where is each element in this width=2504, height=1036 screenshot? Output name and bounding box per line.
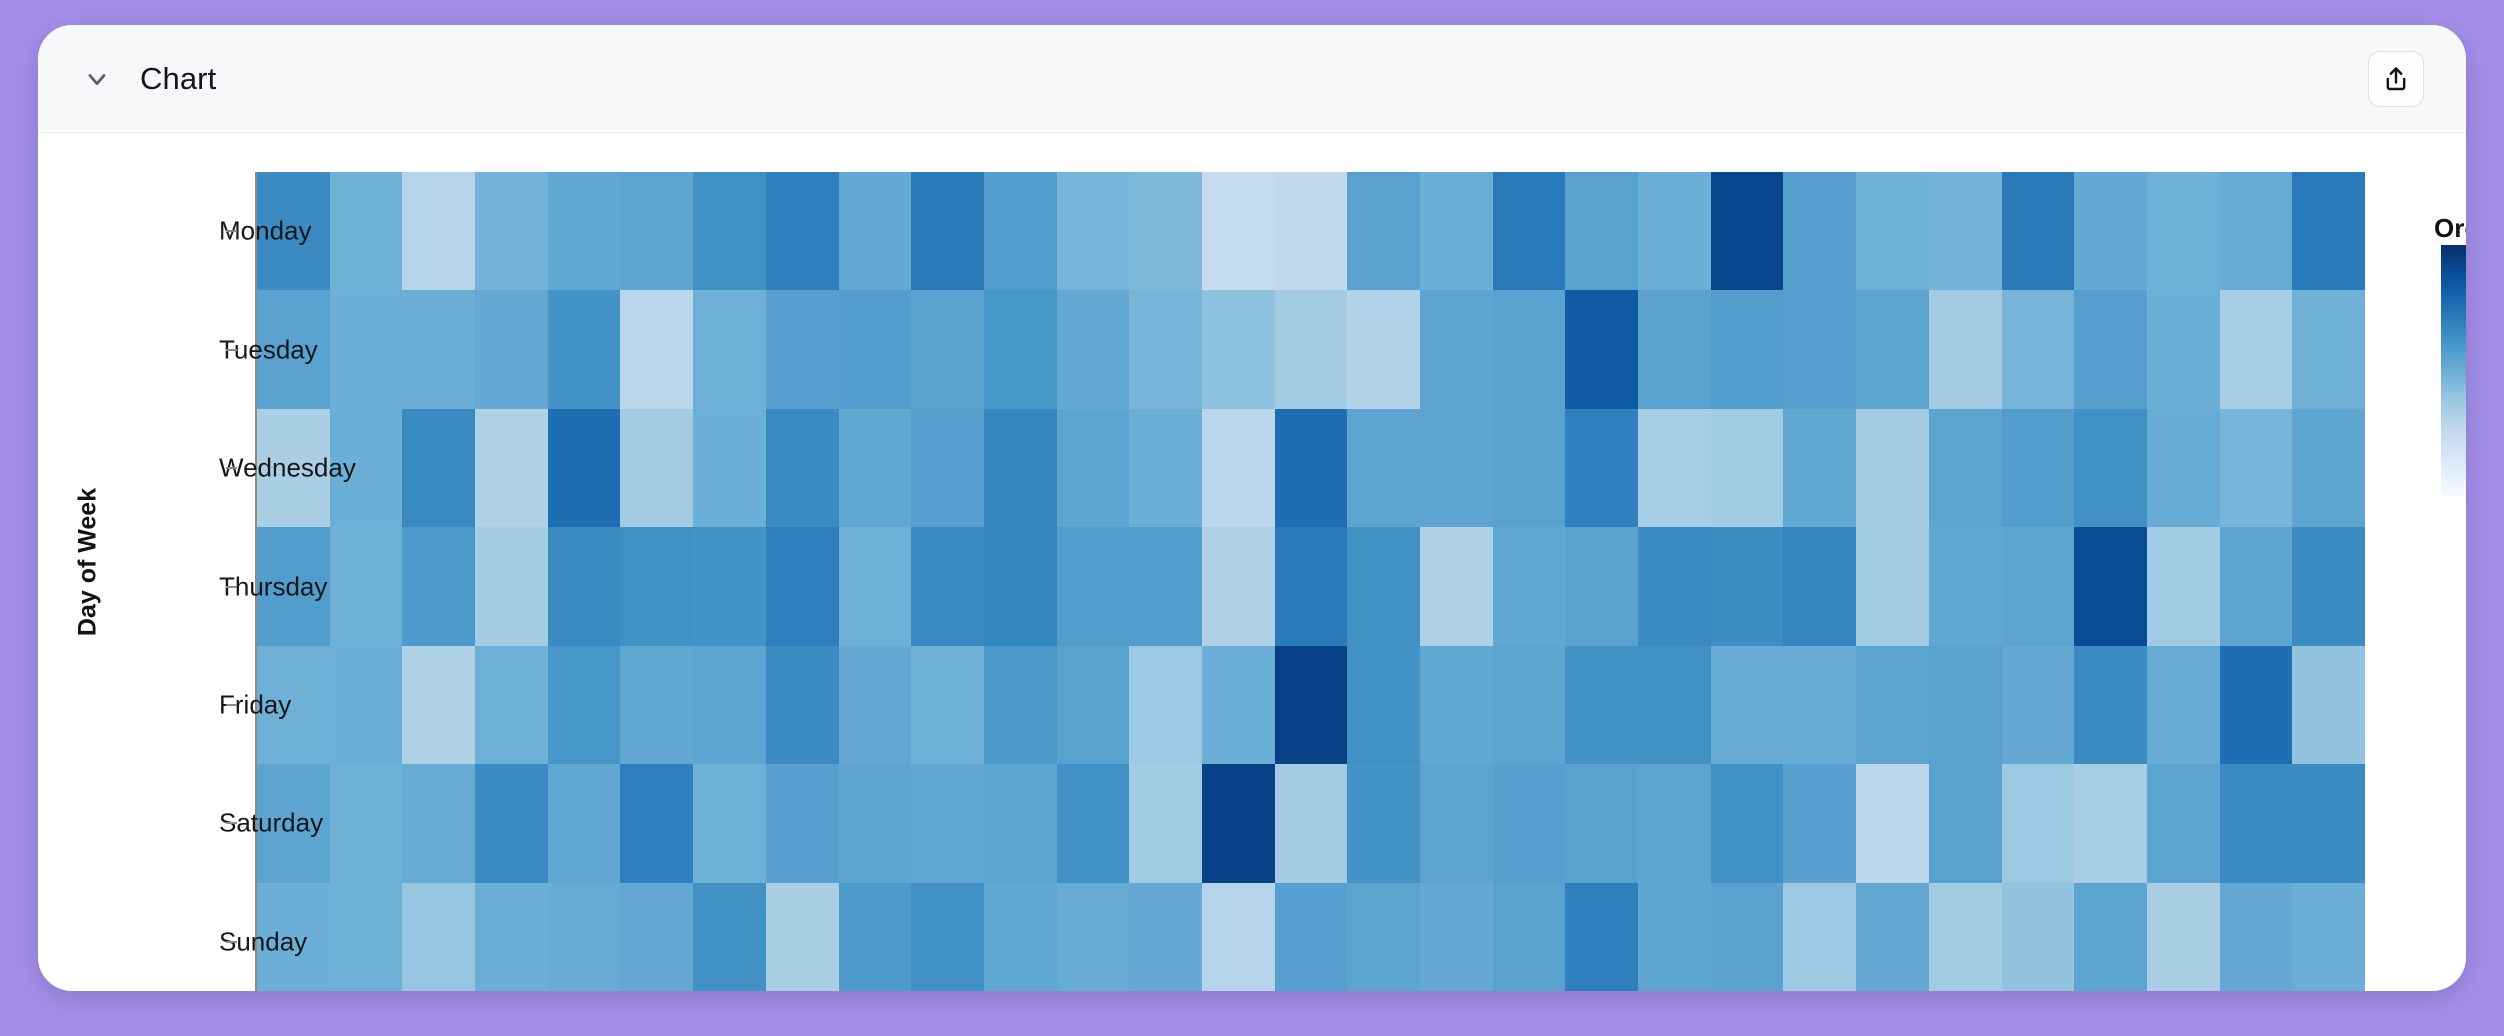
heatmap-cell[interactable]: [766, 764, 839, 882]
heatmap-cell[interactable]: [911, 290, 984, 408]
heatmap-cell[interactable]: [402, 290, 475, 408]
heatmap-cell[interactable]: [548, 883, 621, 991]
heatmap-cell[interactable]: [2292, 764, 2365, 882]
heatmap-cell[interactable]: [1565, 290, 1638, 408]
heatmap-cell[interactable]: [1129, 172, 1202, 290]
heatmap-cell[interactable]: [1565, 172, 1638, 290]
heatmap-cell[interactable]: [1275, 646, 1348, 764]
heatmap-cell[interactable]: [1638, 764, 1711, 882]
heatmap-cell[interactable]: [2147, 883, 2220, 991]
heatmap-cell[interactable]: [766, 646, 839, 764]
heatmap-cell[interactable]: [1929, 409, 2002, 527]
heatmap-cell[interactable]: [1783, 172, 1856, 290]
heatmap-cell[interactable]: [693, 172, 766, 290]
heatmap-cell[interactable]: [1057, 527, 1130, 645]
heatmap-cell[interactable]: [1347, 883, 1420, 991]
heatmap-cell[interactable]: [1347, 646, 1420, 764]
heatmap-cell[interactable]: [1711, 290, 1784, 408]
heatmap-cell[interactable]: [1202, 527, 1275, 645]
heatmap-cell[interactable]: [2220, 764, 2293, 882]
y-axis-tick: [226, 941, 237, 943]
heatmap-cell[interactable]: [2220, 409, 2293, 527]
heatmap-cell[interactable]: [693, 527, 766, 645]
heatmap-cell[interactable]: [693, 409, 766, 527]
heatmap-cell[interactable]: [2002, 527, 2075, 645]
heatmap-cell[interactable]: [1638, 646, 1711, 764]
heatmap-cell[interactable]: [1929, 172, 2002, 290]
heatmap-cell[interactable]: [1565, 646, 1638, 764]
heatmap-cell[interactable]: [1493, 764, 1566, 882]
heatmap-cell[interactable]: [766, 409, 839, 527]
heatmap-cell[interactable]: [1856, 172, 1929, 290]
heatmap-cell[interactable]: [475, 527, 548, 645]
heatmap-cell[interactable]: [1202, 646, 1275, 764]
heatmap-cell[interactable]: [1638, 290, 1711, 408]
y-axis-tick: [226, 586, 237, 588]
heatmap-cell[interactable]: [2002, 764, 2075, 882]
heatmap-cell[interactable]: [839, 172, 912, 290]
heatmap-cell[interactable]: [1856, 527, 1929, 645]
heatmap-cell[interactable]: [1929, 646, 2002, 764]
heatmap-cell[interactable]: [1057, 764, 1130, 882]
heatmap-cell[interactable]: [1493, 527, 1566, 645]
heatmap-cell[interactable]: [548, 172, 621, 290]
heatmap-cell[interactable]: [2292, 172, 2365, 290]
heatmap-cell[interactable]: [402, 527, 475, 645]
heatmap-cell[interactable]: [1638, 172, 1711, 290]
heatmap-cell[interactable]: [1711, 646, 1784, 764]
heatmap-cell[interactable]: [475, 172, 548, 290]
heatmap-cell[interactable]: [620, 764, 693, 882]
heatmap-cell[interactable]: [2147, 290, 2220, 408]
heatmap-cell[interactable]: [1275, 764, 1348, 882]
heatmap-cell[interactable]: [2002, 172, 2075, 290]
heatmap-cell[interactable]: [2220, 290, 2293, 408]
heatmap-cell[interactable]: [911, 646, 984, 764]
heatmap-cell[interactable]: [2292, 646, 2365, 764]
heatmap-cell[interactable]: [766, 883, 839, 991]
heatmap-cell[interactable]: [402, 172, 475, 290]
heatmap-cell[interactable]: [1057, 290, 1130, 408]
heatmap-cell[interactable]: [2074, 527, 2147, 645]
heatmap-cell[interactable]: [1347, 172, 1420, 290]
heatmap-grid: [257, 172, 2365, 991]
heatmap-cell[interactable]: [911, 883, 984, 991]
heatmap-cell[interactable]: [2074, 883, 2147, 991]
heatmap-cell[interactable]: [1420, 409, 1493, 527]
heatmap-cell[interactable]: [2074, 646, 2147, 764]
heatmap-cell[interactable]: [839, 646, 912, 764]
heatmap-cell[interactable]: [1275, 290, 1348, 408]
heatmap-cell[interactable]: [1275, 527, 1348, 645]
heatmap-cell[interactable]: [693, 290, 766, 408]
legend-title: Orders: [2434, 213, 2466, 244]
heatmap-cell[interactable]: [330, 883, 403, 991]
heatmap-cell[interactable]: [2292, 409, 2365, 527]
heatmap-cell[interactable]: [1129, 883, 1202, 991]
heatmap-cell[interactable]: [1783, 527, 1856, 645]
heatmap-cell[interactable]: [2220, 172, 2293, 290]
heatmap-cell[interactable]: [620, 883, 693, 991]
heatmap-cell[interactable]: [1638, 883, 1711, 991]
heatmap-cell[interactable]: [839, 527, 912, 645]
heatmap-cell[interactable]: [2220, 646, 2293, 764]
heatmap-cell[interactable]: [548, 646, 621, 764]
heatmap-cell[interactable]: [1057, 646, 1130, 764]
heatmap-cell[interactable]: [475, 764, 548, 882]
y-axis-tick: [226, 230, 237, 232]
heatmap-cell[interactable]: [1057, 409, 1130, 527]
heatmap-cell[interactable]: [984, 290, 1057, 408]
heatmap-cell[interactable]: [1783, 764, 1856, 882]
heatmap-cell[interactable]: [911, 409, 984, 527]
heatmap-cell[interactable]: [984, 764, 1057, 882]
heatmap-cell[interactable]: [2002, 409, 2075, 527]
heatmap-cell[interactable]: [1347, 409, 1420, 527]
heatmap-cell[interactable]: [1493, 172, 1566, 290]
heatmap-cell[interactable]: [1711, 409, 1784, 527]
heatmap-cell[interactable]: [1129, 764, 1202, 882]
heatmap-cell[interactable]: [2147, 527, 2220, 645]
heatmap-cell[interactable]: [766, 172, 839, 290]
heatmap-cell[interactable]: [2002, 290, 2075, 408]
heatmap-cell[interactable]: [1711, 883, 1784, 991]
y-axis-tick-label: Wednesday: [219, 453, 356, 484]
heatmap-cell[interactable]: [911, 172, 984, 290]
legend-colorbar: [2441, 245, 2466, 497]
heatmap-cell[interactable]: [984, 646, 1057, 764]
heatmap-cell[interactable]: [1202, 883, 1275, 991]
heatmap-cell[interactable]: [620, 409, 693, 527]
heatmap-cell[interactable]: [1638, 409, 1711, 527]
heatmap-cell[interactable]: [2147, 764, 2220, 882]
heatmap-cell[interactable]: [2002, 646, 2075, 764]
heatmap-cell[interactable]: [1347, 290, 1420, 408]
heatmap-cell[interactable]: [1129, 646, 1202, 764]
heatmap-cell[interactable]: [766, 527, 839, 645]
heatmap-cell[interactable]: [1129, 527, 1202, 645]
heatmap-cell[interactable]: [548, 764, 621, 882]
heatmap-cell[interactable]: [1202, 172, 1275, 290]
heatmap-cell[interactable]: [1565, 527, 1638, 645]
heatmap-cell[interactable]: [2292, 883, 2365, 991]
heatmap-cell[interactable]: [2074, 764, 2147, 882]
heatmap-plot-area: Day of Week Week Orders 400300200100 Mon…: [38, 133, 2466, 991]
y-axis-tick: [226, 349, 237, 351]
heatmap-cell[interactable]: [1202, 409, 1275, 527]
heatmap-cell[interactable]: [1565, 409, 1638, 527]
heatmap-cell[interactable]: [1275, 883, 1348, 991]
heatmap-cell[interactable]: [984, 409, 1057, 527]
heatmap-cell[interactable]: [1929, 883, 2002, 991]
heatmap-cell[interactable]: [1493, 646, 1566, 764]
heatmap-cell[interactable]: [1856, 646, 1929, 764]
heatmap-cell[interactable]: [2074, 290, 2147, 408]
y-axis-tick: [226, 467, 237, 469]
heatmap-cell[interactable]: [1420, 883, 1493, 991]
heatmap-cell[interactable]: [620, 290, 693, 408]
heatmap-cell[interactable]: [2147, 646, 2220, 764]
heatmap-cell[interactable]: [1856, 764, 1929, 882]
heatmap-cell[interactable]: [1420, 527, 1493, 645]
heatmap-cell[interactable]: [1493, 409, 1566, 527]
heatmap-cell[interactable]: [1420, 646, 1493, 764]
heatmap-cell[interactable]: [911, 527, 984, 645]
card-header: Chart: [38, 25, 2466, 133]
heatmap-cell[interactable]: [2220, 883, 2293, 991]
heatmap-cell[interactable]: [1202, 764, 1275, 882]
heatmap-cell[interactable]: [1783, 409, 1856, 527]
heatmap-cell[interactable]: [1565, 764, 1638, 882]
heatmap-cell[interactable]: [330, 290, 403, 408]
heatmap-cell[interactable]: [402, 409, 475, 527]
heatmap-cell[interactable]: [475, 409, 548, 527]
heatmap-cell[interactable]: [984, 527, 1057, 645]
heatmap-cell[interactable]: [693, 646, 766, 764]
heatmap-cell[interactable]: [330, 764, 403, 882]
y-axis-tick: [226, 704, 237, 706]
heatmap-cell[interactable]: [1711, 764, 1784, 882]
heatmap-cell[interactable]: [839, 290, 912, 408]
heatmap-cell[interactable]: [2147, 409, 2220, 527]
heatmap-cell[interactable]: [984, 172, 1057, 290]
heatmap-cell[interactable]: [402, 646, 475, 764]
heatmap-cell[interactable]: [330, 646, 403, 764]
heatmap-cell[interactable]: [1783, 646, 1856, 764]
heatmap-cell[interactable]: [475, 883, 548, 991]
heatmap-cell[interactable]: [1275, 172, 1348, 290]
heatmap-cell[interactable]: [1929, 764, 2002, 882]
heatmap-cell[interactable]: [2147, 172, 2220, 290]
chevron-down-icon[interactable]: [80, 62, 114, 96]
heatmap-cell[interactable]: [1420, 172, 1493, 290]
heatmap-cell[interactable]: [1129, 290, 1202, 408]
heatmap-cell[interactable]: [475, 290, 548, 408]
heatmap-cell[interactable]: [693, 764, 766, 882]
heatmap-cell[interactable]: [2002, 883, 2075, 991]
heatmap-cell[interactable]: [1057, 883, 1130, 991]
chart-card: Chart Day of Week Week Orders 4003002001…: [38, 25, 2466, 991]
heatmap-cell[interactable]: [548, 527, 621, 645]
y-axis-title: Day of Week: [74, 488, 103, 636]
heatmap-cell[interactable]: [1347, 527, 1420, 645]
heatmap-cell[interactable]: [1856, 290, 1929, 408]
heatmap-cell[interactable]: [1420, 290, 1493, 408]
heatmap-cell[interactable]: [475, 646, 548, 764]
heatmap-cell[interactable]: [2292, 527, 2365, 645]
heatmap-cell[interactable]: [548, 409, 621, 527]
heatmap-cell[interactable]: [911, 764, 984, 882]
heatmap-cell[interactable]: [1929, 290, 2002, 408]
heatmap-cell[interactable]: [1711, 527, 1784, 645]
heatmap-cell[interactable]: [1493, 883, 1566, 991]
heatmap-cell[interactable]: [693, 883, 766, 991]
heatmap-cell[interactable]: [330, 527, 403, 645]
heatmap-cell[interactable]: [330, 172, 403, 290]
heatmap-cell[interactable]: [1420, 764, 1493, 882]
heatmap-cell[interactable]: [2220, 527, 2293, 645]
heatmap-cell[interactable]: [766, 290, 839, 408]
heatmap-cell[interactable]: [620, 172, 693, 290]
heatmap-cell[interactable]: [1275, 409, 1348, 527]
heatmap-cell[interactable]: [1057, 172, 1130, 290]
heatmap-cell[interactable]: [1493, 290, 1566, 408]
heatmap-cell[interactable]: [1856, 409, 1929, 527]
heatmap-cell[interactable]: [1638, 527, 1711, 645]
heatmap-cell[interactable]: [1202, 290, 1275, 408]
heatmap-cell[interactable]: [402, 764, 475, 882]
heatmap-cell[interactable]: [839, 764, 912, 882]
heatmap-cell[interactable]: [1129, 409, 1202, 527]
heatmap-cell[interactable]: [1783, 883, 1856, 991]
heatmap-cell[interactable]: [984, 883, 1057, 991]
heatmap-cell[interactable]: [1856, 883, 1929, 991]
heatmap-cell[interactable]: [620, 646, 693, 764]
heatmap-cell[interactable]: [839, 409, 912, 527]
heatmap-cell[interactable]: [1711, 172, 1784, 290]
heatmap-cell[interactable]: [2292, 290, 2365, 408]
share-export-button[interactable]: [2368, 51, 2424, 107]
heatmap-cell[interactable]: [1347, 764, 1420, 882]
heatmap-cell[interactable]: [2074, 172, 2147, 290]
y-axis-tick: [226, 822, 237, 824]
heatmap-cell[interactable]: [548, 290, 621, 408]
heatmap-cell[interactable]: [402, 883, 475, 991]
heatmap-cell[interactable]: [1565, 883, 1638, 991]
share-export-icon: [2382, 65, 2410, 93]
heatmap-cell[interactable]: [2074, 409, 2147, 527]
heatmap-cell[interactable]: [839, 883, 912, 991]
page-title: Chart: [140, 61, 216, 97]
heatmap-cell[interactable]: [1783, 290, 1856, 408]
heatmap-cell[interactable]: [1929, 527, 2002, 645]
heatmap-cell[interactable]: [620, 527, 693, 645]
